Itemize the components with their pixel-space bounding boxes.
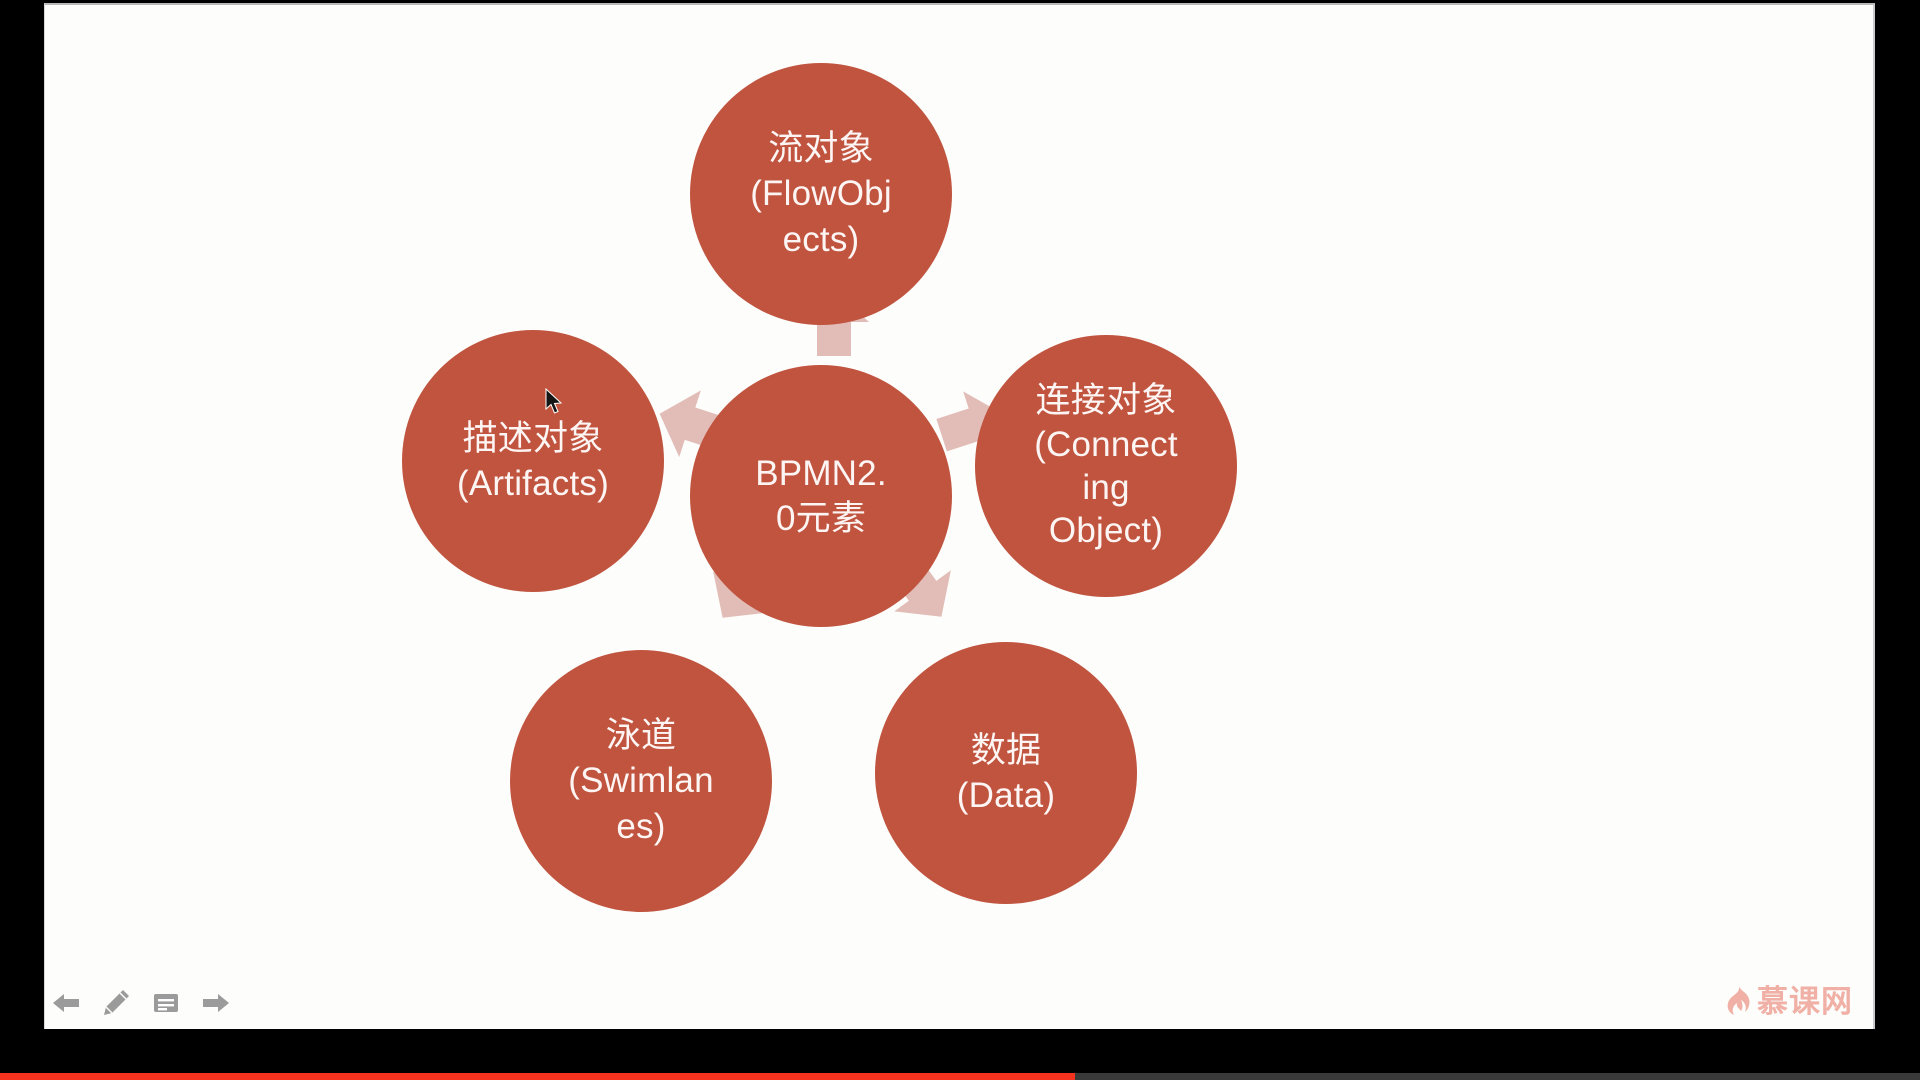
node-flow-objects-line-2: (FlowObj (750, 171, 892, 217)
node-connecting-object-line-1: 连接对象 (1036, 379, 1177, 422)
bpmn-elements-diagram: 流对象 (FlowObj ects) 连接对象 (Connect ing Obj… (45, 5, 1875, 1029)
note-icon[interactable] (150, 987, 182, 1019)
progress-bar-track[interactable] (0, 1073, 1920, 1080)
node-connecting-object-line-2: (Connect (1034, 423, 1178, 466)
slide-canvas: 流对象 (FlowObj ects) 连接对象 (Connect ing Obj… (44, 3, 1875, 1029)
node-artifacts-line-2: (Artifacts) (457, 461, 609, 507)
node-data-line-2: (Data) (957, 773, 1055, 819)
next-arrow-icon[interactable] (200, 987, 232, 1019)
node-flow-objects-line-1: 流对象 (768, 126, 874, 172)
node-data-line-1: 数据 (971, 728, 1041, 774)
node-connecting-object-line-3: ing (1082, 466, 1129, 509)
node-center-hub: BPMN2. 0元素 (690, 365, 952, 627)
node-center-hub-line-2: 0元素 (776, 496, 866, 542)
node-swimlanes-line-1: 泳道 (606, 713, 676, 759)
node-flow-objects-line-3: ects) (783, 217, 860, 263)
previous-arrow-icon[interactable] (50, 987, 82, 1019)
node-flow-objects: 流对象 (FlowObj ects) (690, 63, 952, 325)
node-data: 数据 (Data) (875, 642, 1137, 904)
progress-bar-fill (0, 1073, 1075, 1080)
video-player: 流对象 (FlowObj ects) 连接对象 (Connect ing Obj… (0, 0, 1920, 1080)
pencil-icon[interactable] (100, 987, 132, 1019)
node-connecting-object: 连接对象 (Connect ing Object) (975, 335, 1237, 597)
node-swimlanes: 泳道 (Swimlan es) (510, 650, 772, 912)
node-artifacts: 描述对象 (Artifacts) (402, 330, 664, 592)
flame-icon (1723, 985, 1751, 1017)
node-swimlanes-line-2: (Swimlan (568, 758, 714, 804)
slide-toolbar (46, 987, 232, 1019)
watermark-text: 慕课网 (1757, 986, 1853, 1017)
node-connecting-object-line-4: Object) (1049, 509, 1163, 552)
node-artifacts-line-1: 描述对象 (463, 416, 604, 462)
node-center-hub-line-1: BPMN2. (755, 451, 887, 497)
watermark: 慕课网 (1723, 985, 1853, 1017)
node-swimlanes-line-3: es) (616, 804, 665, 850)
